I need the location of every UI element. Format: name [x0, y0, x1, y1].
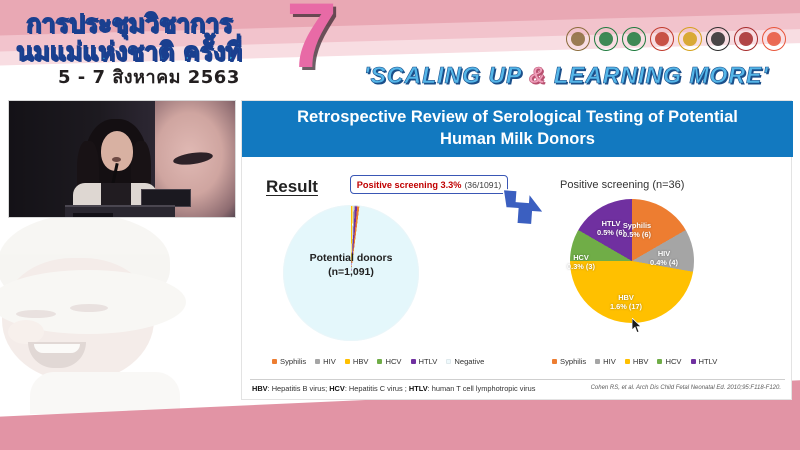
callout-sub-text: (36/1091): [464, 180, 501, 190]
pie-slice-label-hcv: HCV 0.3% (3): [560, 253, 602, 272]
tagline-part2: LEARNING MORE': [546, 62, 768, 88]
thai-royal-emblem-logo: [566, 27, 590, 51]
footnote-key-hcv: HCV: [329, 384, 345, 393]
department-health-logo: [622, 27, 646, 51]
ministry-public-health-logo: [594, 27, 618, 51]
legend2-label-hcv: HCV: [665, 357, 681, 366]
footnote-key-hbv: HBV: [252, 384, 268, 393]
footnote-val-hcv: : Hepatitis C virus ;: [345, 384, 409, 393]
positive-screening-callout: Positive screening 3.3% (36/1091): [350, 175, 508, 194]
legend-label-negative: Negative: [454, 357, 484, 366]
result-heading: Result: [266, 177, 318, 197]
thai-pediatric-society-logo: [678, 27, 702, 51]
legend-potential-donors: Syphilis HIV HBV HCV HTLV Negative: [272, 357, 484, 366]
medical-council-logo: [734, 27, 758, 51]
legend2-item-hiv: HIV: [595, 357, 616, 366]
tagline-part1: 'SCALING UP: [364, 62, 529, 88]
slice-value-htlv: 0.5% (6): [588, 228, 634, 237]
legend2-item-htlv: HTLV: [691, 357, 718, 366]
nursing-council-logo: [706, 27, 730, 51]
thaihealth-sss-logo: [762, 27, 786, 51]
legend-label-htlv: HTLV: [419, 357, 438, 366]
legend-item-hcv: HCV: [377, 357, 401, 366]
legend2-label-syphilis: Syphilis: [560, 357, 586, 366]
presentation-slide: Retrospective Review of Serological Test…: [241, 100, 792, 400]
tagline-ampersand: &: [529, 62, 547, 88]
speaker-video[interactable]: [8, 100, 236, 218]
callout-main-text: Positive screening 3.3%: [357, 180, 462, 190]
legend-item-htlv: HTLV: [411, 357, 438, 366]
source-citation: Cohen RS, et al. Arch Dis Child Fetal Ne…: [591, 385, 781, 391]
conference-banner: การประชุมวิชาการ นมแม่แห่งชาติ ครั้งที่ …: [0, 0, 800, 96]
potential-donors-center-label: Potential donors (n=1,091): [283, 251, 419, 279]
legend-label-syphilis: Syphilis: [280, 357, 306, 366]
legend2-item-syphilis: Syphilis: [552, 357, 586, 366]
legend2-label-hiv: HIV: [603, 357, 616, 366]
legend2-label-htlv: HTLV: [699, 357, 718, 366]
potential-donors-label-line2: (n=1,091): [283, 265, 419, 279]
footnote-val-htlv: : human T cell lymphotropic virus: [428, 384, 536, 393]
conference-tagline: 'SCALING UP & LEARNING MORE': [364, 62, 769, 89]
legend-item-hbv: HBV: [345, 357, 369, 366]
legend2-item-hcv: HCV: [657, 357, 681, 366]
footnote-divider: [250, 379, 785, 380]
royal-college-pediatrics-logo: [650, 27, 674, 51]
slice-value-hbv: 1.6% (17): [598, 302, 654, 311]
legend-positive-screening: Syphilis HIV HBV HCV HTLV: [552, 357, 717, 366]
legend-label-hiv: HIV: [323, 357, 336, 366]
positive-screening-pie-title: Positive screening (n=36): [560, 179, 760, 191]
abbreviations-footnote: HBV: Hepatitis B virus; HCV: Hepatitis C…: [252, 384, 535, 393]
slide-title: Retrospective Review of Serological Test…: [242, 101, 793, 157]
legend-item-hiv: HIV: [315, 357, 336, 366]
slice-value-hiv: 0.4% (4): [642, 258, 686, 267]
potential-donors-label-line1: Potential donors: [283, 251, 419, 265]
legend-item-syphilis: Syphilis: [272, 357, 306, 366]
pie-slice-label-hiv: HIV 0.4% (4): [642, 249, 686, 268]
footnote-key-htlv: HTLV: [409, 384, 428, 393]
slide-screenshot: การประชุมวิชาการ นมแม่แห่งชาติ ครั้งที่ …: [0, 0, 800, 450]
slice-value-hcv: 0.3% (3): [560, 262, 602, 271]
pie-slice-label-htlv: HTLV 0.5% (6): [588, 219, 634, 238]
conference-date: 5 - 7 สิงหาคม 2563: [58, 62, 240, 91]
baby-watermark-image: [0, 214, 204, 404]
legend-item-negative: Negative: [446, 357, 484, 366]
legend2-item-hbv: HBV: [625, 357, 649, 366]
legend2-label-hbv: HBV: [633, 357, 649, 366]
footnote-val-hbv: : Hepatitis B virus;: [268, 384, 330, 393]
legend-label-hcv: HCV: [385, 357, 401, 366]
sponsor-logos: [566, 22, 794, 56]
blue-arrow-icon: [500, 187, 546, 227]
mouse-cursor: [632, 318, 643, 334]
pie-slice-label-hbv: HBV 1.6% (17): [598, 293, 654, 312]
legend-label-hbv: HBV: [353, 357, 369, 366]
conference-edition-number: 7: [286, 0, 337, 82]
